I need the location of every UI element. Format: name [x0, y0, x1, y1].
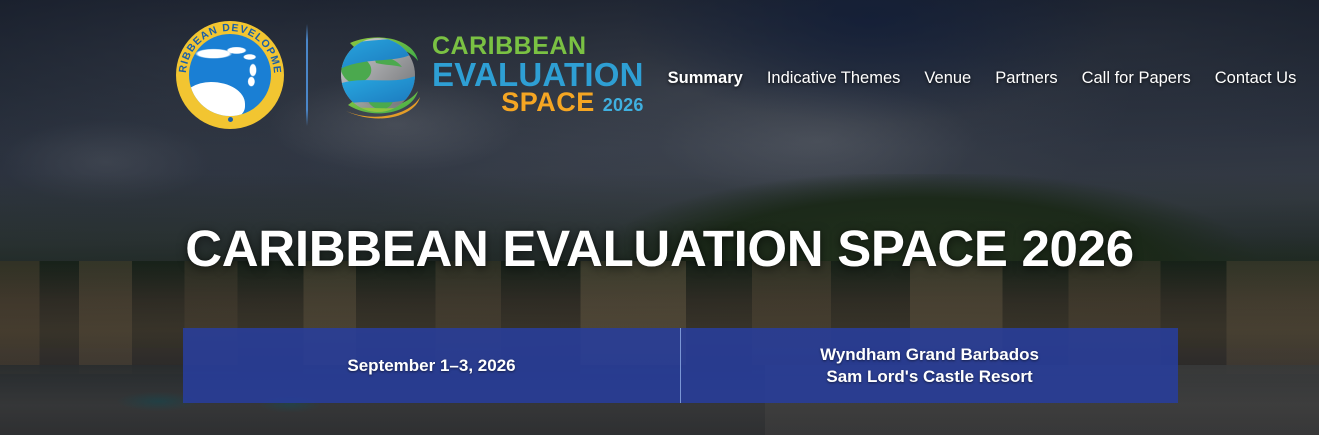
- page-title: CARIBBEAN EVALUATION SPACE 2026: [0, 219, 1319, 278]
- nav-item-call-for-papers[interactable]: Call for Papers: [1082, 69, 1191, 88]
- ces-line-space: SPACE: [501, 90, 595, 115]
- event-venue-cell: Wyndham Grand Barbados Sam Lord's Castle…: [681, 328, 1178, 403]
- brand-area: CARIBBEAN DEVELOPMENT BANK: [176, 21, 1296, 129]
- ces-line-space-year: SPACE 2026: [432, 90, 644, 115]
- caribbean-development-bank-logo[interactable]: CARIBBEAN DEVELOPMENT BANK: [176, 21, 284, 129]
- nav-item-partners[interactable]: Partners: [995, 69, 1057, 88]
- event-info-bar: September 1–3, 2026 Wyndham Grand Barbad…: [183, 328, 1178, 403]
- event-venue-line1: Wyndham Grand Barbados: [820, 344, 1039, 366]
- cdb-dot-marker: [228, 117, 233, 122]
- ces-line-year: 2026: [603, 97, 644, 114]
- main-navigation: Summary Indicative Themes Venue Partners…: [668, 63, 1297, 88]
- event-date-cell: September 1–3, 2026: [183, 328, 680, 403]
- nav-item-contact-us[interactable]: Contact Us: [1215, 69, 1297, 88]
- caribbean-evaluation-space-logo[interactable]: CARIBBEAN EVALUATION SPACE 2026: [330, 27, 644, 123]
- cdb-caribbean-map-icon: [189, 34, 271, 116]
- ces-wordmark: CARIBBEAN EVALUATION SPACE 2026: [432, 35, 644, 115]
- nav-item-indicative-themes[interactable]: Indicative Themes: [767, 69, 901, 88]
- hero-banner: CARIBBEAN DEVELOPMENT BANK: [0, 0, 1319, 435]
- site-header: CARIBBEAN DEVELOPMENT BANK: [0, 0, 1319, 150]
- ces-line-evaluation: EVALUATION: [432, 59, 644, 90]
- globe-swoosh-icon: [330, 27, 426, 123]
- event-date: September 1–3, 2026: [347, 355, 515, 377]
- nav-item-summary[interactable]: Summary: [668, 69, 743, 88]
- brand-divider: [306, 24, 308, 126]
- nav-item-venue[interactable]: Venue: [924, 69, 971, 88]
- event-venue-line2: Sam Lord's Castle Resort: [826, 366, 1032, 388]
